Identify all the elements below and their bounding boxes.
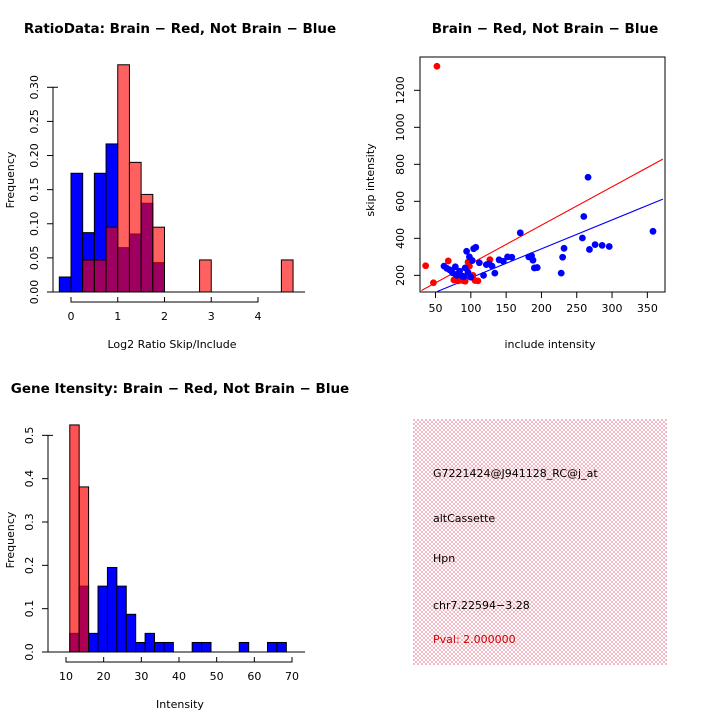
scatter-title: Brain − Red, Not Brain − Blue	[432, 21, 658, 37]
histogram-bar	[153, 227, 165, 292]
scatter-point	[508, 254, 515, 261]
ratio-histogram-xlabel: Log2 Ratio Skip/Include	[107, 338, 236, 351]
scatter-point	[606, 243, 613, 250]
panel-ratio-histogram: RatioData: Brain − Red, Not Brain − Blue…	[0, 0, 360, 360]
scatter-point	[559, 254, 566, 261]
probe-info-box: G7221424@J941128_RC@j_at altCassette Hpn…	[413, 419, 667, 665]
histogram-bar	[202, 642, 211, 652]
scatter-point	[580, 213, 587, 220]
scatter-point	[422, 262, 429, 269]
histogram-bar	[98, 586, 107, 652]
y-tick-label: 1000	[394, 113, 407, 141]
y-tick-label: 0.25	[28, 109, 41, 134]
gene-histogram-svg: Gene Itensity: Brain − Red, Not Brain − …	[0, 360, 360, 720]
scatter-point	[467, 274, 474, 281]
y-tick-label: 800	[394, 154, 407, 175]
histogram-bar	[83, 260, 95, 292]
scatter-data-points	[422, 63, 656, 286]
scatter-ylabel: skip intensity	[364, 143, 377, 217]
x-tick-label: 350	[637, 302, 658, 315]
x-tick-label: 3	[208, 310, 215, 323]
histogram-bar	[155, 642, 164, 652]
ratio-histogram-ylabel: Frequency	[4, 151, 17, 208]
histogram-bar	[141, 194, 153, 292]
x-tick-label: 50	[210, 670, 224, 683]
scatter-point	[480, 272, 487, 279]
histogram-bar	[117, 586, 126, 652]
scatter-point	[579, 235, 586, 242]
histogram-bar	[281, 260, 293, 292]
histogram-bar	[136, 642, 145, 652]
y-axis-line	[53, 87, 58, 292]
scatter-point	[585, 174, 592, 181]
scatter-point	[561, 245, 568, 252]
y-tick-label: 0.00	[28, 280, 41, 305]
histogram-bar	[79, 487, 88, 652]
pval-text: Pval: 2.000000	[433, 633, 516, 646]
x-tick-label: 300	[602, 302, 623, 315]
ratio-histogram-title: RatioData: Brain − Red, Not Brain − Blue	[24, 21, 336, 37]
y-tick-label: 200	[394, 265, 407, 286]
panel-probe-info: G7221424@J941128_RC@j_at altCassette Hpn…	[360, 360, 720, 720]
scatter-point	[434, 63, 441, 70]
scatter-point	[586, 246, 593, 253]
locus-text: chr7.22594−3.28	[433, 599, 530, 612]
x-tick-label: 150	[496, 302, 517, 315]
histogram-bar	[70, 425, 79, 652]
y-tick-label: 1200	[394, 76, 407, 104]
y-tick-label: 0.1	[23, 600, 36, 618]
y-tick-label: 600	[394, 191, 407, 212]
scatter-point	[472, 244, 479, 251]
histogram-bar	[145, 633, 154, 652]
histogram-bar	[106, 227, 118, 292]
histogram-bar	[164, 642, 173, 652]
y-tick-label: 0.15	[28, 177, 41, 202]
histogram-bar	[94, 260, 106, 292]
histogram-bar	[200, 260, 212, 292]
scatter-point	[592, 241, 599, 248]
scatter-xlabel: include intensity	[504, 338, 596, 351]
x-tick-label: 30	[134, 670, 148, 683]
event-type-text: altCassette	[433, 512, 495, 525]
histogram-bar	[89, 633, 98, 652]
x-tick-label: 10	[59, 670, 73, 683]
x-tick-label: 250	[566, 302, 587, 315]
histogram-bar	[239, 642, 248, 652]
x-tick-label: 1	[114, 310, 121, 323]
y-tick-label: 0.5	[23, 427, 36, 445]
histogram-bar	[277, 642, 286, 652]
histogram-bar	[268, 642, 277, 652]
histogram-bar	[107, 568, 116, 653]
scatter-point	[476, 259, 483, 266]
scatter-point	[599, 242, 606, 249]
histogram-bar	[129, 162, 141, 292]
y-tick-label: 400	[394, 228, 407, 249]
y-tick-label: 0.3	[23, 513, 36, 531]
scatter-point	[474, 277, 481, 284]
x-tick-label: 20	[97, 670, 111, 683]
histogram-bar	[59, 277, 71, 292]
x-tick-label: 2	[161, 310, 168, 323]
panel-gene-intensity-histogram: Gene Itensity: Brain − Red, Not Brain − …	[0, 360, 360, 720]
x-tick-label: 200	[531, 302, 552, 315]
histogram-bar	[192, 642, 201, 652]
scatter-point	[530, 257, 537, 264]
gene-histogram-title: Gene Itensity: Brain − Red, Not Brain − …	[11, 381, 349, 397]
x-tick-label: 4	[255, 310, 262, 323]
y-tick-label: 0.10	[28, 212, 41, 237]
ratio-histogram-bars	[59, 65, 293, 292]
gene-histogram-ylabel: Frequency	[4, 511, 17, 568]
scatter-point	[534, 264, 541, 271]
histogram-bar	[118, 65, 130, 292]
x-tick-label: 70	[285, 670, 299, 683]
scatter-point	[558, 270, 565, 277]
x-tick-label: 60	[247, 670, 261, 683]
scatter-axes: 2004006008001000120050100150200250300350	[394, 76, 658, 315]
y-tick-label: 0.0	[23, 643, 36, 661]
y-tick-label: 0.2	[23, 557, 36, 575]
probe-id-text: G7221424@J941128_RC@j_at	[433, 467, 598, 480]
r-multipanel-figure: RatioData: Brain − Red, Not Brain − Blue…	[0, 0, 720, 720]
panel-intensity-scatter: Brain − Red, Not Brain − Blue 2004006008…	[360, 0, 720, 360]
x-tick-label: 100	[460, 302, 481, 315]
y-tick-label: 0.20	[28, 143, 41, 168]
x-tick-label: 40	[172, 670, 186, 683]
y-axis-line	[48, 435, 53, 652]
scatter-point	[650, 228, 657, 235]
scatter-point	[517, 229, 524, 236]
gene-histogram-xlabel: Intensity	[156, 698, 204, 711]
scatter-point	[430, 279, 437, 286]
gene-histogram-bars	[70, 425, 287, 652]
scatter-point	[491, 270, 498, 277]
ratio-histogram-svg: RatioData: Brain − Red, Not Brain − Blue…	[0, 0, 360, 360]
scatter-plot-frame	[420, 57, 665, 292]
x-tick-label: 0	[68, 310, 75, 323]
scatter-point	[489, 263, 496, 270]
scatter-point	[469, 257, 476, 264]
plot-box	[420, 57, 665, 292]
gene-symbol-text: Hpn	[433, 552, 455, 565]
histogram-bar	[71, 173, 83, 292]
y-tick-label: 0.4	[23, 470, 36, 488]
histogram-bar	[126, 614, 135, 652]
y-tick-label: 0.05	[28, 246, 41, 271]
intensity-scatter-svg: Brain − Red, Not Brain − Blue 2004006008…	[360, 0, 720, 360]
y-tick-label: 0.30	[28, 75, 41, 100]
x-tick-label: 50	[429, 302, 443, 315]
